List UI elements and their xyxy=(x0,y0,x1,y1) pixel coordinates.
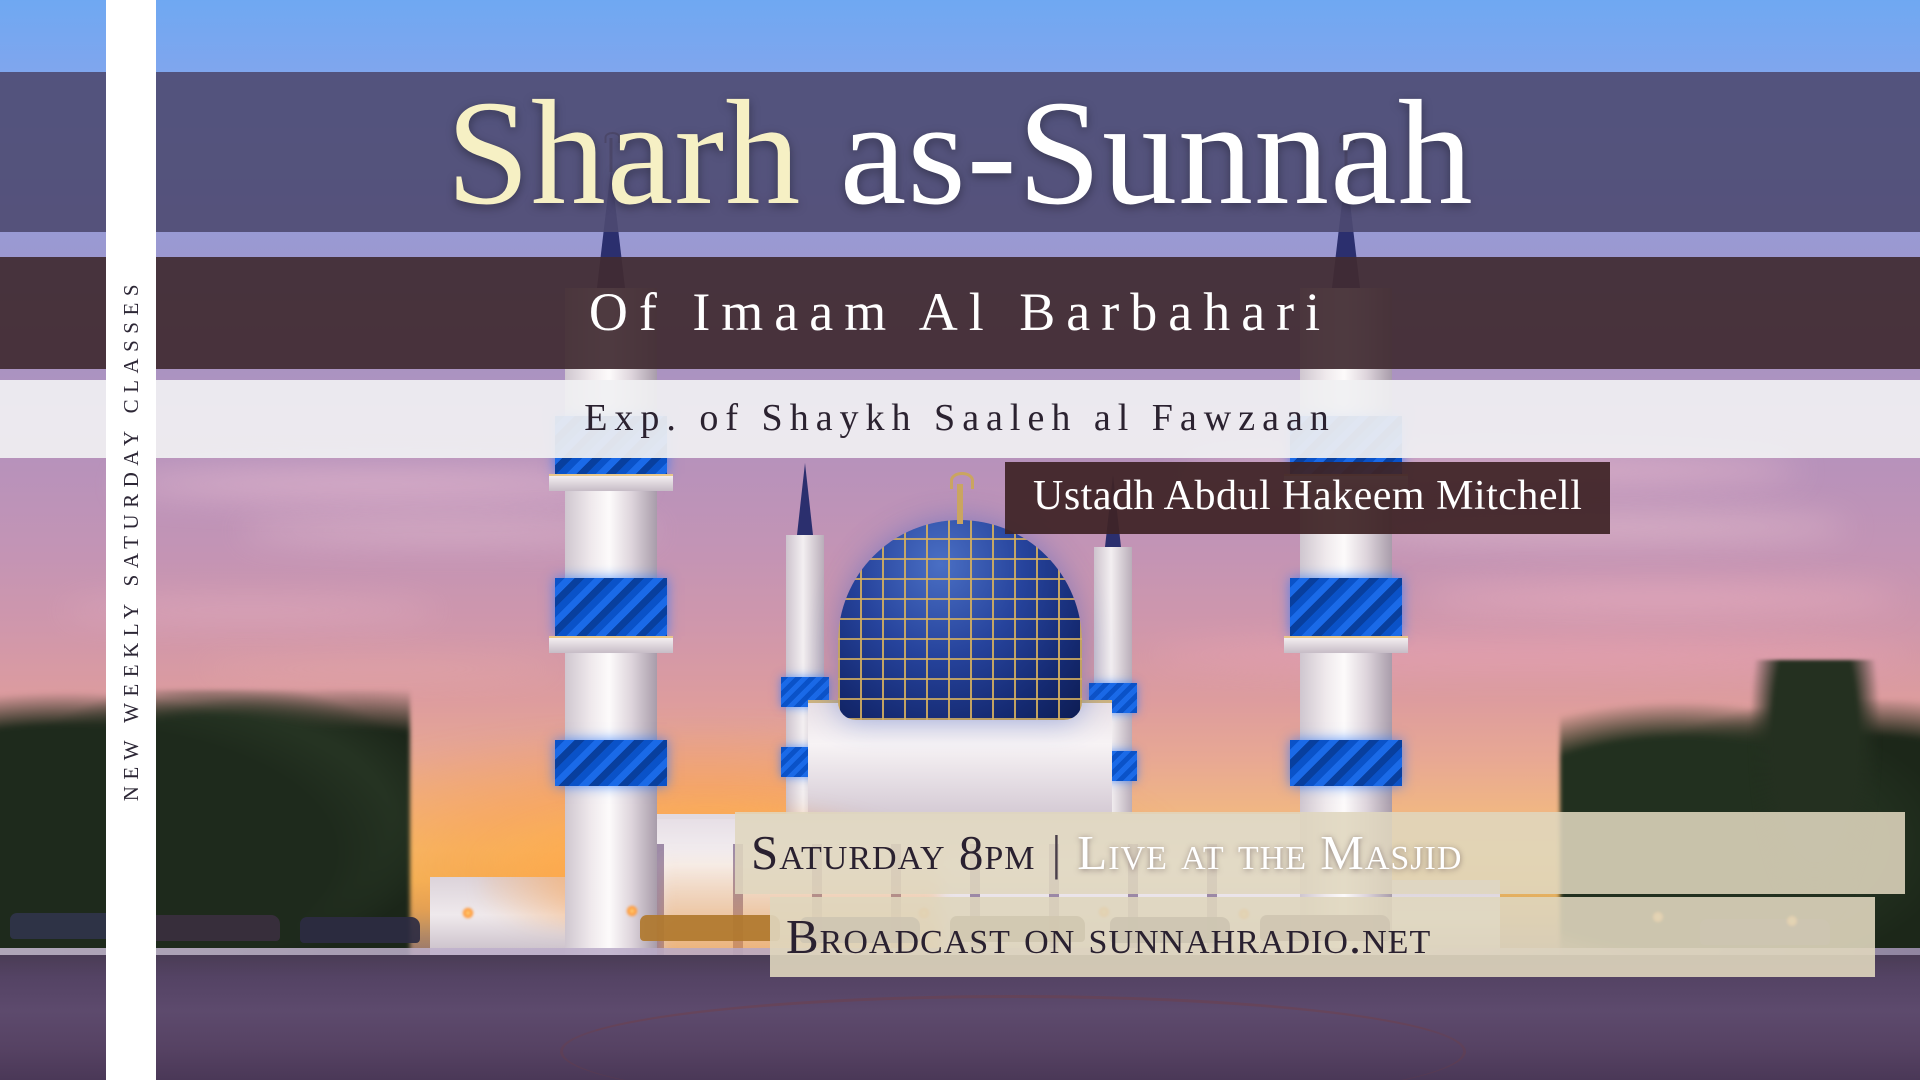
schedule-location: Live at the Masjid xyxy=(1077,824,1462,882)
side-strip-label: NEW WEEKLY SATURDAY CLASSES xyxy=(119,278,144,801)
subtitle: Of Imaam Al Barbahari xyxy=(0,272,1920,352)
title-word-as-sunnah: as-Sunnah xyxy=(801,70,1473,236)
page-title: Sharh as-Sunnah xyxy=(0,68,1920,238)
title-word-sharh: Sharh xyxy=(446,70,801,236)
poster-canvas: NEW WEEKLY SATURDAY CLASSES Sharh as-Sun… xyxy=(0,0,1920,1080)
mosque-dome xyxy=(838,520,1082,720)
schedule-time: Saturday 8pm xyxy=(751,824,1035,882)
dome-finial xyxy=(957,484,963,524)
explainer-line: Exp. of Shaykh Saaleh al Fawzaan xyxy=(0,387,1920,449)
broadcast-band: Broadcast on sunnahradio.net xyxy=(770,897,1875,977)
schedule-band: Saturday 8pm | Live at the Masjid xyxy=(735,812,1905,894)
schedule-separator: | xyxy=(1051,824,1061,882)
speaker-badge: Ustadh Abdul Hakeem Mitchell xyxy=(1005,462,1610,534)
